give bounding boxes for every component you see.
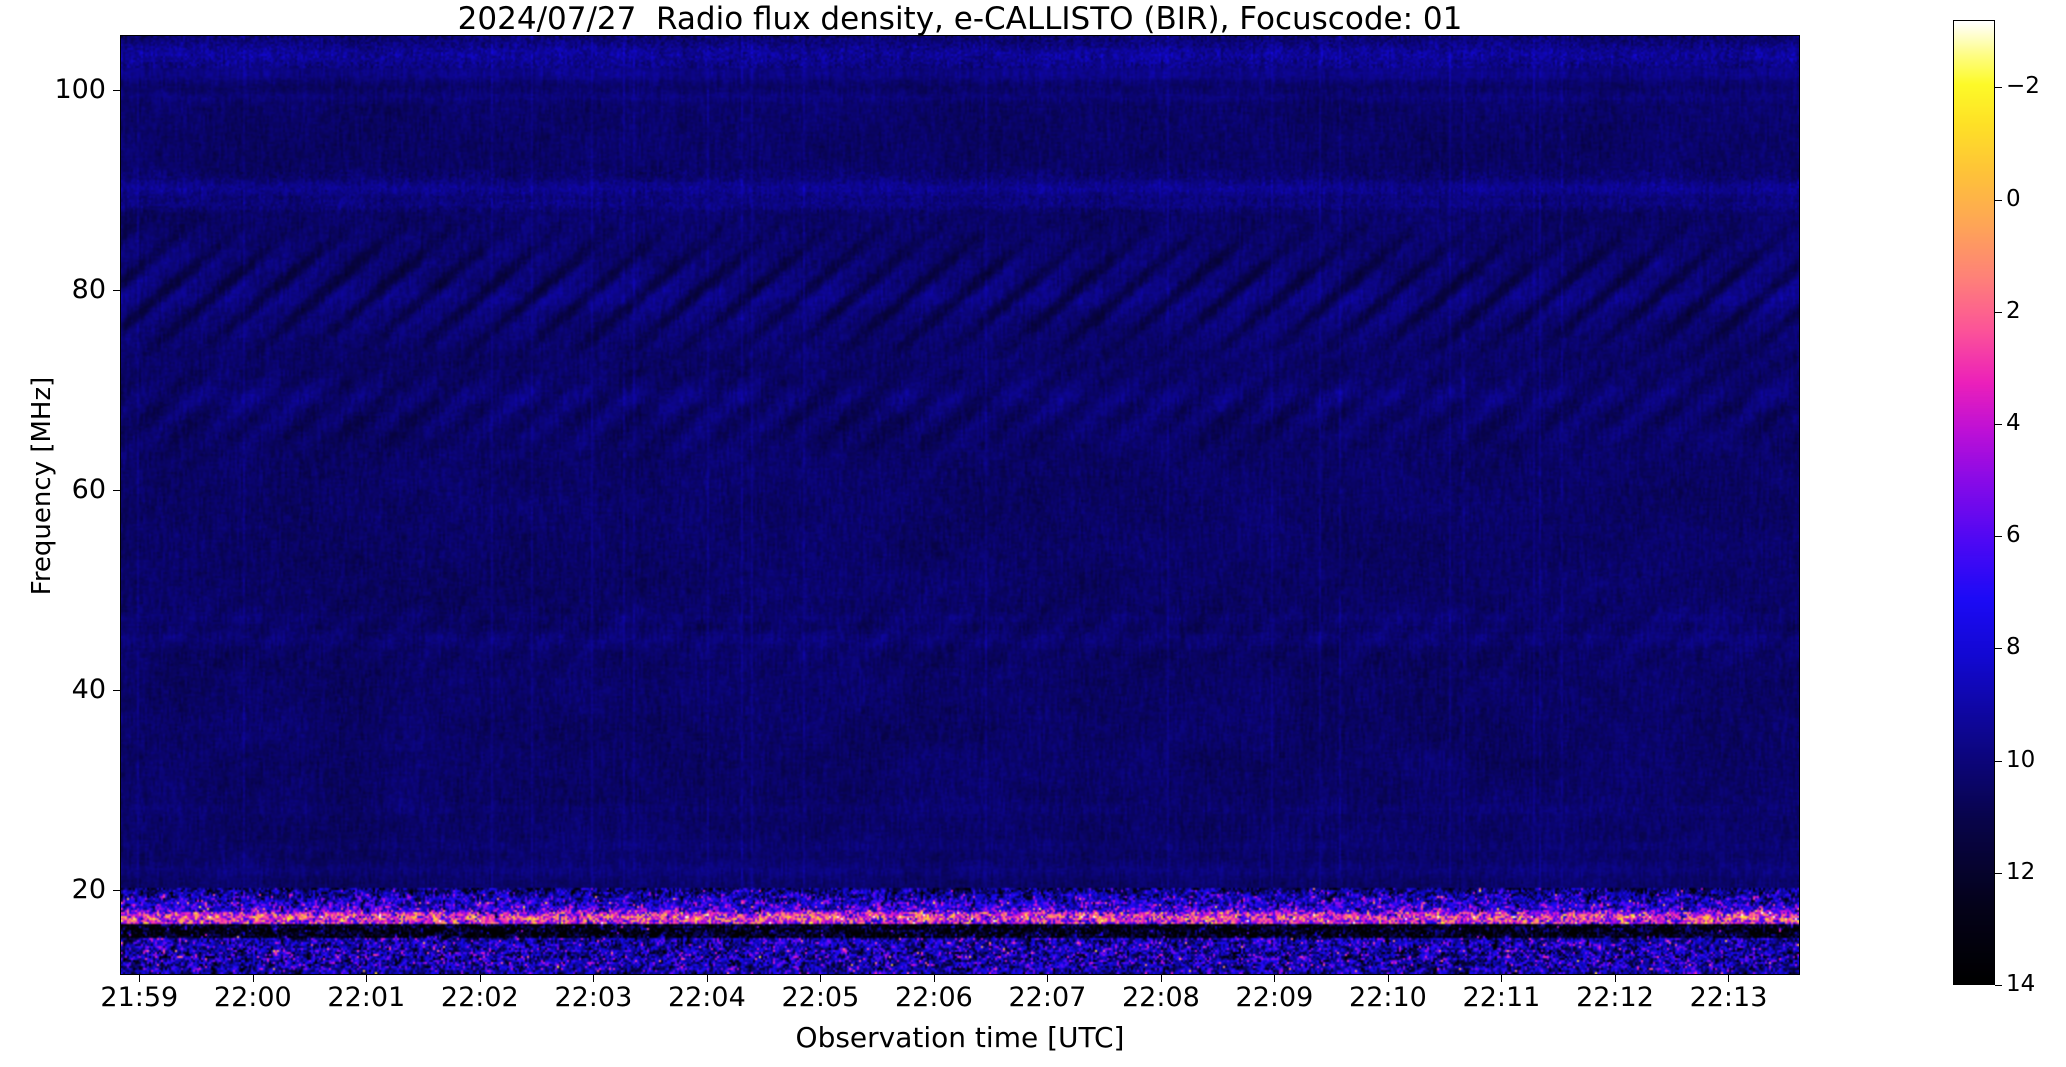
x-tick-label: 22:11 — [1441, 984, 1561, 1012]
colorbar-tick-label: 6 — [2006, 524, 2021, 547]
radio-spectrogram-figure: 2024/07/27 Radio flux density, e-CALLIST… — [0, 0, 2066, 1067]
x-tick-label: 22:07 — [987, 984, 1107, 1012]
x-tick-label: 22:12 — [1555, 984, 1675, 1012]
x-tick-mark — [1501, 975, 1502, 982]
y-tick-label: 40 — [72, 676, 106, 703]
x-tick-label: 22:09 — [1214, 984, 1334, 1012]
colorbar-tick-label: 10 — [2006, 749, 2035, 772]
x-tick-label: 22:05 — [760, 984, 880, 1012]
y-tick-label: 60 — [72, 476, 106, 503]
x-tick-mark — [253, 975, 254, 982]
colorbar-tick-mark — [1995, 536, 2002, 537]
colorbar-tick-label: 0 — [2006, 188, 2021, 211]
y-tick-mark — [113, 290, 120, 291]
x-tick-mark — [1728, 975, 1729, 982]
x-tick-mark — [707, 975, 708, 982]
x-tick-mark — [139, 975, 140, 982]
y-axis-label: Frequency [MHz] — [27, 206, 57, 766]
y-tick-mark — [113, 490, 120, 491]
colorbar-tick-mark — [1995, 312, 2002, 313]
x-tick-label: 22:06 — [874, 984, 994, 1012]
y-tick-label: 20 — [72, 876, 106, 903]
y-tick-mark — [113, 690, 120, 691]
x-tick-label: 21:59 — [79, 984, 199, 1012]
colorbar-tick-label: 8 — [2006, 636, 2021, 659]
x-tick-mark — [593, 975, 594, 982]
x-tick-mark — [366, 975, 367, 982]
colorbar-tick-mark — [1995, 87, 2002, 88]
colorbar-tick-mark — [1995, 761, 2002, 762]
x-tick-mark — [1274, 975, 1275, 982]
y-tick-mark — [113, 890, 120, 891]
x-tick-mark — [1615, 975, 1616, 982]
colorbar-tick-label: −2 — [2006, 75, 2040, 98]
colorbar-tick-mark — [1995, 985, 2002, 986]
x-tick-mark — [820, 975, 821, 982]
x-tick-mark — [1047, 975, 1048, 982]
colorbar-frame — [1953, 20, 1995, 985]
y-tick-label: 100 — [54, 76, 106, 103]
y-tick-label: 80 — [72, 276, 106, 303]
x-tick-label: 22:10 — [1328, 984, 1448, 1012]
x-tick-label: 22:00 — [193, 984, 313, 1012]
colorbar-tick-mark — [1995, 200, 2002, 201]
colorbar-tick-label: 2 — [2006, 300, 2021, 323]
x-tick-label: 22:02 — [420, 984, 540, 1012]
x-tick-label: 22:04 — [647, 984, 767, 1012]
x-tick-mark — [934, 975, 935, 982]
colorbar-tick-mark — [1995, 873, 2002, 874]
x-axis-label: Observation time [UTC] — [120, 1021, 1800, 1054]
x-tick-label: 22:01 — [306, 984, 426, 1012]
x-tick-mark — [1388, 975, 1389, 982]
colorbar-tick-label: 12 — [2006, 861, 2035, 884]
plot-axes-frame — [120, 35, 1800, 975]
x-tick-mark — [480, 975, 481, 982]
x-tick-label: 22:13 — [1668, 984, 1788, 1012]
x-tick-label: 22:08 — [1101, 984, 1221, 1012]
x-tick-label: 22:03 — [533, 984, 653, 1012]
colorbar-tick-mark — [1995, 424, 2002, 425]
colorbar-tick-label: 4 — [2006, 412, 2021, 435]
x-tick-mark — [1161, 975, 1162, 982]
page-title: 2024/07/27 Radio flux density, e-CALLIST… — [120, 2, 1800, 36]
y-tick-mark — [113, 90, 120, 91]
colorbar-tick-mark — [1995, 648, 2002, 649]
colorbar-tick-label: 14 — [2006, 973, 2035, 996]
